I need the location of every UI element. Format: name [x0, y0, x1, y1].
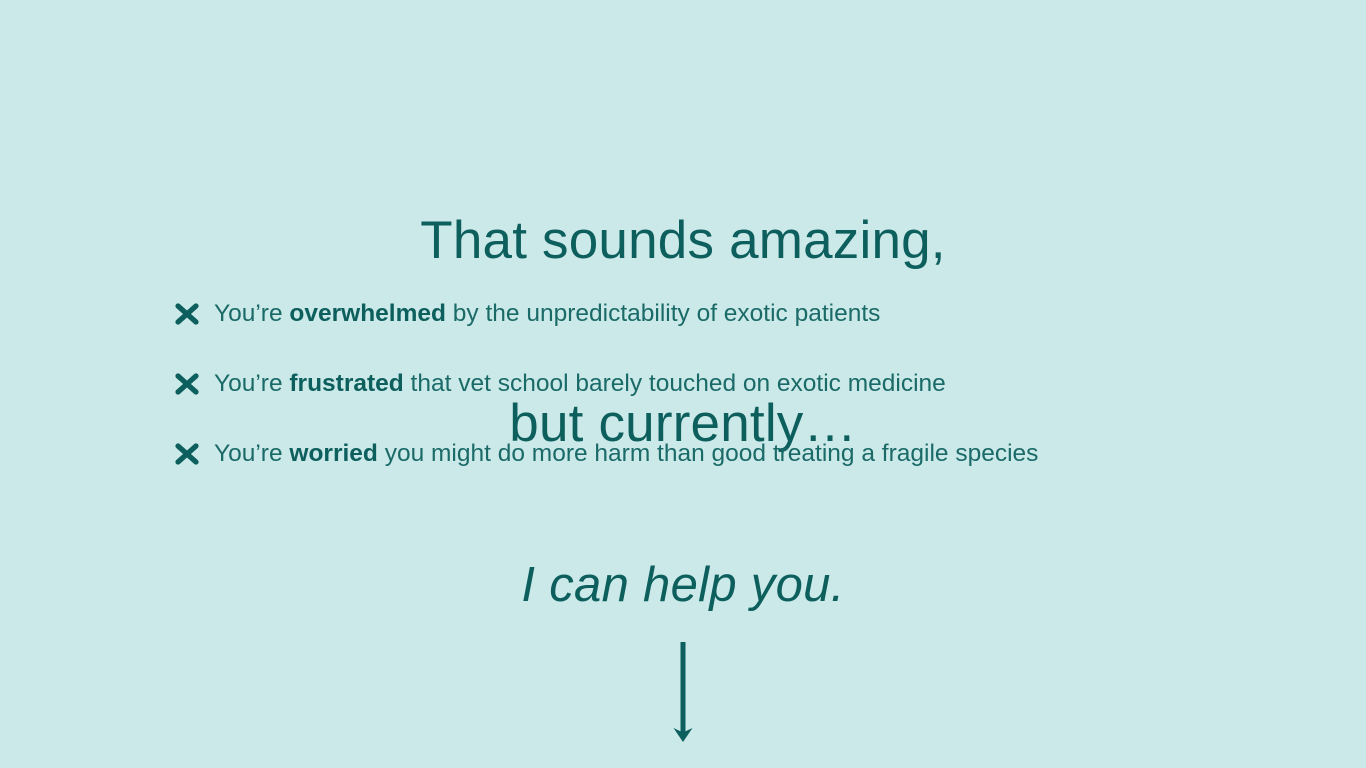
list-item-prefix: You’re [214, 370, 289, 397]
list-item-text: You’re worried you might do more harm th… [214, 437, 1038, 471]
list-item: You’re overwhelmed by the unpredictabili… [172, 293, 1272, 335]
tagline: I can help you. [0, 556, 1366, 614]
list-item-prefix: You’re [214, 300, 289, 327]
list-item-text: You’re frustrated that vet school barely… [214, 367, 946, 401]
list-item-emphasis: overwhelmed [289, 300, 446, 327]
page-title-line-1: That sounds amazing, [0, 210, 1366, 271]
list-item-text: You’re overwhelmed by the unpredictabili… [214, 297, 880, 331]
list-item-emphasis: frustrated [289, 370, 403, 397]
list-item-suffix: by the unpredictability of exotic patien… [446, 300, 880, 327]
list-item-prefix: You’re [214, 440, 289, 467]
list-item-emphasis: worried [289, 440, 378, 467]
x-mark-icon [172, 299, 202, 329]
slide-canvas: That sounds amazing, but currently… You’… [0, 0, 1366, 768]
x-mark-icon [172, 369, 202, 399]
arrow-down-icon [670, 641, 696, 751]
pain-point-list: You’re overwhelmed by the unpredictabili… [172, 293, 1272, 503]
list-item: You’re frustrated that vet school barely… [172, 363, 1272, 405]
list-item-suffix: you might do more harm than good treatin… [378, 440, 1039, 467]
x-mark-icon [172, 439, 202, 469]
list-item-suffix: that vet school barely touched on exotic… [404, 370, 946, 397]
list-item: You’re worried you might do more harm th… [172, 433, 1272, 475]
